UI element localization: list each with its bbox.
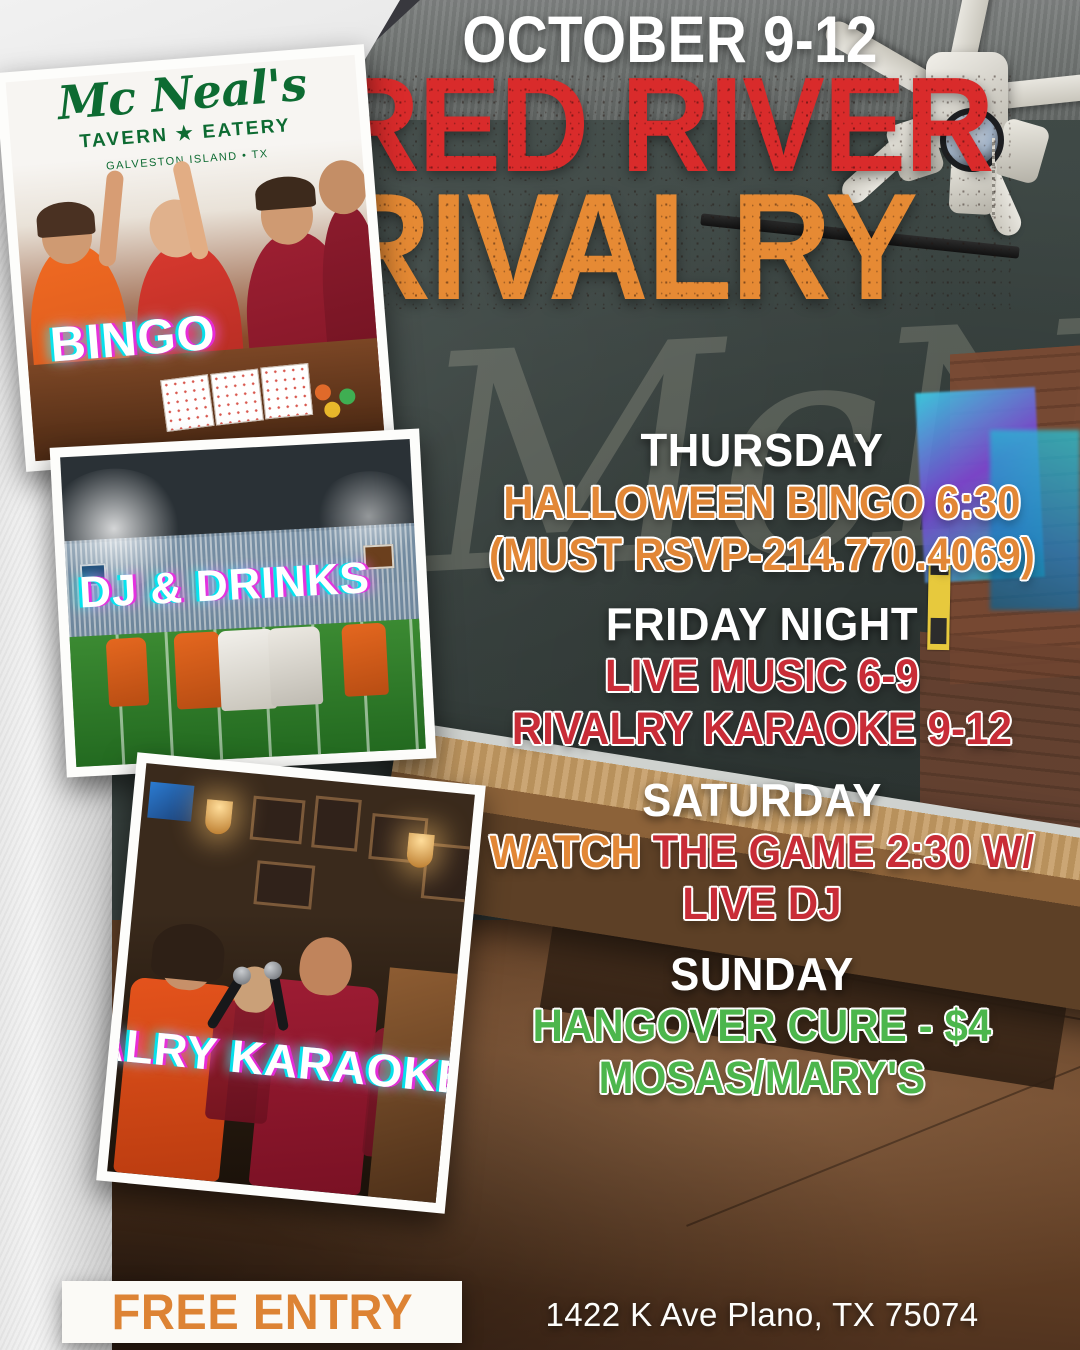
photo-card-karaoke: RIVALRY KARAOKE	[96, 752, 486, 1214]
schedule-detail: MOSAS/MARY'S	[474, 1052, 1051, 1104]
player	[174, 631, 224, 709]
fan-hair	[35, 200, 95, 238]
wall-frame	[253, 860, 315, 909]
schedule-day-thursday: THURSDAY	[468, 425, 1057, 477]
game-time-text: THE GAME 2:30 W/	[641, 826, 1035, 877]
bingo-card	[210, 369, 264, 426]
player	[106, 637, 150, 707]
bingo-card	[160, 374, 214, 432]
schedule-day-sunday: SUNDAY	[468, 949, 1057, 1001]
schedule-detail: RIVALRY KARAOKE 9-12	[474, 703, 1051, 755]
free-entry-badge: FREE ENTRY	[62, 1281, 462, 1343]
schedule-detail-rsvp: (MUST RSVP-214.770.4069)	[474, 529, 1051, 581]
venue-address: 1422 K Ave Plano, TX 75074	[452, 1296, 1072, 1334]
photo-card-bingo: Mc Neal's TAVERN ★ EATERY GALVESTON ISLA…	[0, 44, 395, 472]
schedule-section-sunday: SUNDAY HANGOVER CURE - $4 MOSAS/MARY'S	[452, 949, 1072, 1105]
photo-card-football: DJ & DRINKS	[50, 429, 437, 778]
schedule-day-saturday: SATURDAY	[468, 775, 1057, 827]
schedule-detail: HALLOWEEN BINGO 6:30	[474, 477, 1051, 529]
player	[267, 626, 323, 707]
title-line-orange: RIVALRY	[330, 185, 1011, 310]
event-title: RED RIVER RIVALRY	[330, 70, 1070, 309]
wall-frame	[311, 796, 362, 852]
watch-word: WATCH	[490, 826, 641, 877]
bingo-card	[260, 363, 313, 419]
flyer-canvas: McN OCTOBER 9-12	[0, 0, 1080, 1350]
schedule-detail-watch-game: WATCH THE GAME 2:30 W/	[474, 826, 1051, 878]
free-entry-label: FREE ENTRY	[111, 1283, 413, 1341]
schedule-day-friday: FRIDAY NIGHT	[468, 599, 1057, 651]
schedule-detail: LIVE DJ	[474, 878, 1051, 930]
event-schedule: THURSDAY HALLOWEEN BINGO 6:30 (MUST RSVP…	[452, 425, 1072, 1113]
player	[341, 623, 389, 697]
schedule-section-thursday: THURSDAY HALLOWEEN BINGO 6:30 (MUST RSVP…	[452, 425, 1072, 581]
schedule-section-friday: FRIDAY NIGHT LIVE MUSIC 6-9 RIVALRY KARA…	[452, 599, 1072, 755]
schedule-section-saturday: SATURDAY WATCH THE GAME 2:30 W/ LIVE DJ	[452, 775, 1072, 931]
bar-tv	[147, 782, 194, 822]
raised-arm	[98, 170, 124, 267]
fan-head	[317, 158, 369, 216]
wall-frame	[250, 796, 306, 845]
schedule-detail: HANGOVER CURE - $4	[474, 1000, 1051, 1052]
fan-hair	[254, 174, 316, 211]
schedule-detail: LIVE MUSIC 6-9	[474, 650, 1051, 702]
